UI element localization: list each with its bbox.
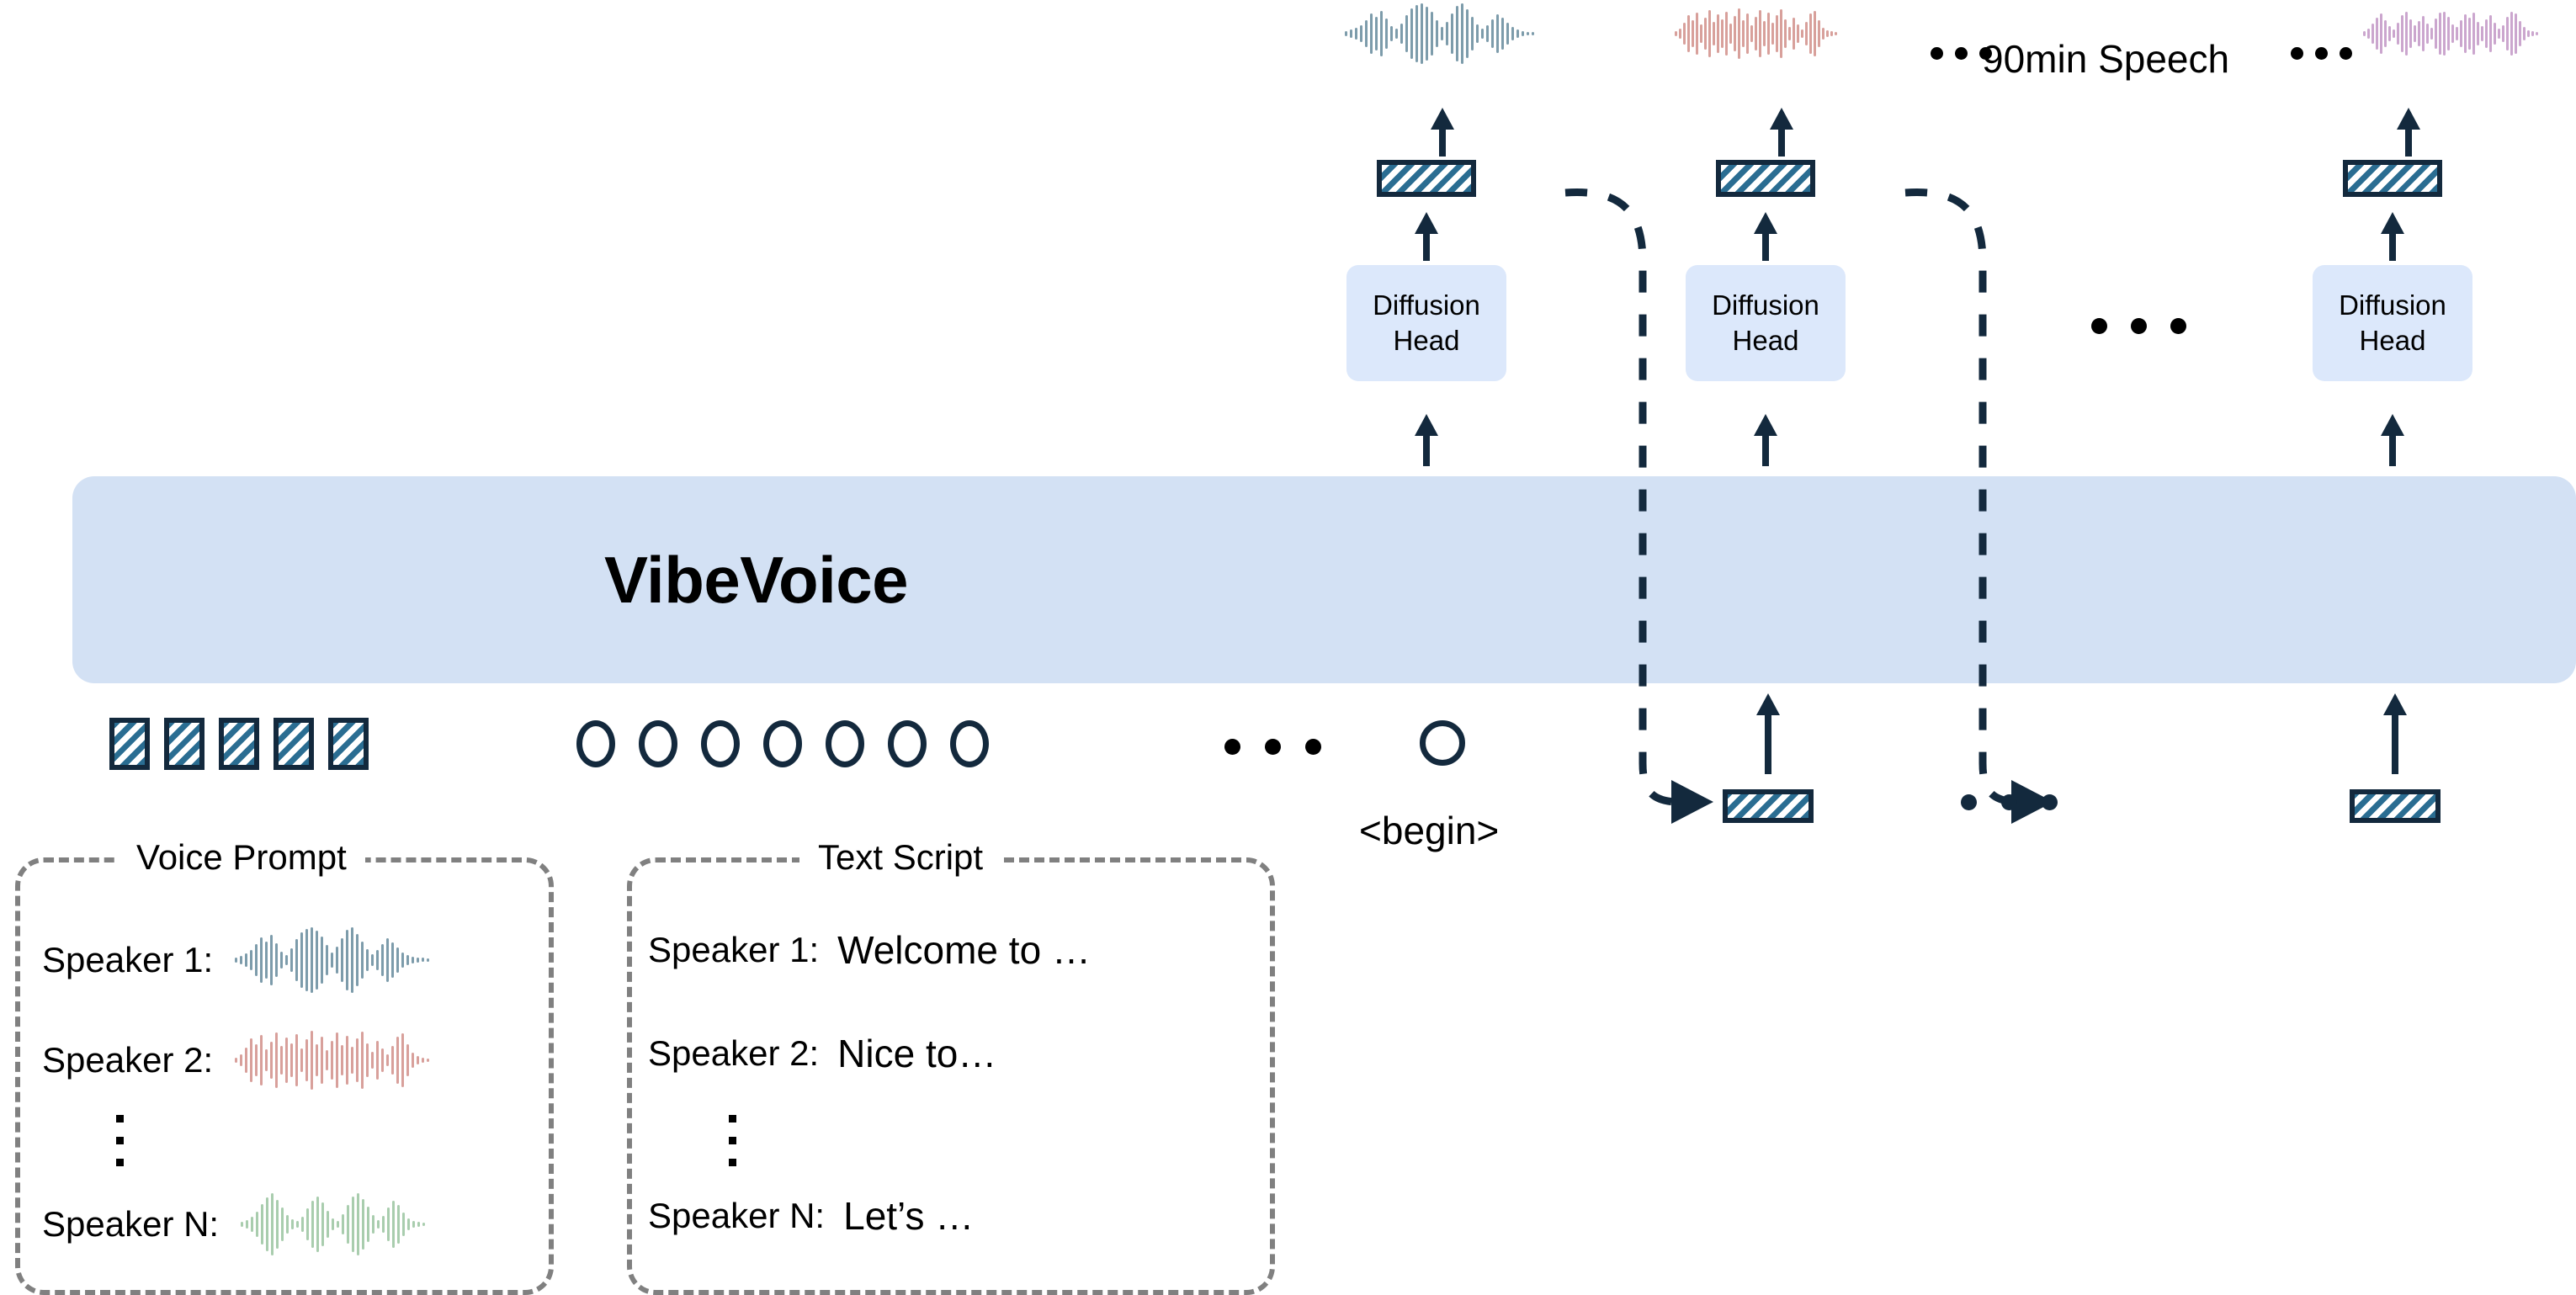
text-script-row-1: Speaker 1: Welcome to …	[648, 927, 1091, 973]
output-waveform-2	[1675, 8, 1850, 59]
text-token	[639, 720, 677, 767]
voice-token	[274, 718, 314, 770]
diffusion-head-label-line1: Diffusion	[1373, 288, 1480, 323]
arrow-head-to-token-3	[2378, 212, 2407, 261]
voice-prompt-waveform-blue-icon	[235, 927, 437, 993]
acoustic-token-in-2	[2350, 789, 2441, 823]
text-script-speaker-name: Speaker 1:	[648, 930, 819, 970]
text-script-line-text: Nice to…	[837, 1031, 996, 1076]
begin-token-label: <begin>	[1359, 808, 1499, 853]
text-script-vertical-ellipsis	[729, 1115, 736, 1166]
feedback-path-2	[1905, 181, 2099, 820]
text-token	[950, 720, 989, 767]
voice-prompt-row-n: Speaker N:	[42, 1193, 443, 1255]
text-script-line-text: Let’s …	[843, 1193, 974, 1239]
voice-prompt-row-2: Speaker 2:	[42, 1031, 437, 1090]
waveform-blue-icon	[1345, 3, 1543, 64]
text-token	[701, 720, 740, 767]
diffusion-head-label-line2: Head	[1394, 323, 1460, 358]
arrow-token-to-waveform-3	[2394, 108, 2423, 157]
text-token	[888, 720, 927, 767]
text-token	[826, 720, 864, 767]
voice-token-row	[109, 718, 369, 770]
acoustic-token-out-3	[2343, 160, 2442, 197]
output-ellipsis-right	[2291, 47, 2352, 60]
acoustic-token-ellipsis	[1961, 794, 2058, 810]
acoustic-token-in-1	[1723, 789, 1814, 823]
speech-duration-label: 90min Speech	[1982, 36, 2229, 82]
text-token-row	[576, 720, 989, 767]
voice-token	[219, 718, 259, 770]
vibevoice-model-banner[interactable]: VibeVoice	[72, 476, 2576, 683]
voice-prompt-waveform-rose-icon	[235, 1031, 437, 1090]
arrow-head-to-token-1	[1412, 212, 1441, 261]
output-waveform-3	[2363, 12, 2552, 56]
voice-prompt-title: Voice Prompt	[118, 837, 365, 878]
diffusion-heads-ellipsis	[2091, 318, 2186, 334]
waveform-rose-icon	[1675, 8, 1850, 59]
voice-prompt-vertical-ellipsis	[116, 1115, 124, 1166]
arrow-model-to-head-1	[1412, 414, 1441, 466]
text-token	[763, 720, 802, 767]
voice-token	[109, 718, 150, 770]
diagram-canvas: 90min Speech	[0, 0, 2576, 1285]
output-waveform-1	[1345, 3, 1543, 64]
arrow-acoustic-token-to-model-1	[1754, 693, 1782, 774]
text-script-speaker-name: Speaker N:	[648, 1196, 825, 1236]
diffusion-head-1[interactable]: Diffusion Head	[1346, 265, 1506, 381]
text-script-title: Text Script	[799, 837, 1001, 878]
text-script-speaker-name: Speaker 2:	[648, 1033, 819, 1074]
text-token	[576, 720, 615, 767]
voice-prompt-waveform-green-icon	[241, 1193, 443, 1255]
token-row-ellipsis	[1224, 739, 1321, 755]
arrow-model-to-head-3	[2378, 414, 2407, 466]
diffusion-head-3[interactable]: Diffusion Head	[2313, 265, 2472, 381]
voice-prompt-speaker-name: Speaker 1:	[42, 940, 213, 980]
acoustic-token-out-1	[1377, 160, 1476, 197]
text-script-row-n: Speaker N: Let’s …	[648, 1193, 974, 1239]
arrow-acoustic-token-to-model-2	[2381, 693, 2409, 774]
voice-token	[164, 718, 204, 770]
text-script-row-2: Speaker 2: Nice to…	[648, 1031, 996, 1076]
voice-prompt-speaker-name: Speaker N:	[42, 1204, 219, 1245]
text-script-line-text: Welcome to …	[837, 927, 1091, 973]
diffusion-head-label-line1: Diffusion	[2339, 288, 2446, 323]
arrow-token-to-waveform-1	[1428, 108, 1457, 157]
voice-prompt-speaker-name: Speaker 2:	[42, 1040, 213, 1080]
arrow-token-to-waveform-2	[1767, 108, 1796, 157]
feedback-path-1	[1565, 181, 1759, 820]
voice-prompt-row-1: Speaker 1:	[42, 927, 437, 993]
begin-token-circle	[1420, 720, 1465, 766]
waveform-purple-icon	[2363, 12, 2552, 56]
diffusion-head-label-line2: Head	[2360, 323, 2426, 358]
model-name: VibeVoice	[604, 542, 908, 618]
voice-token	[328, 718, 369, 770]
